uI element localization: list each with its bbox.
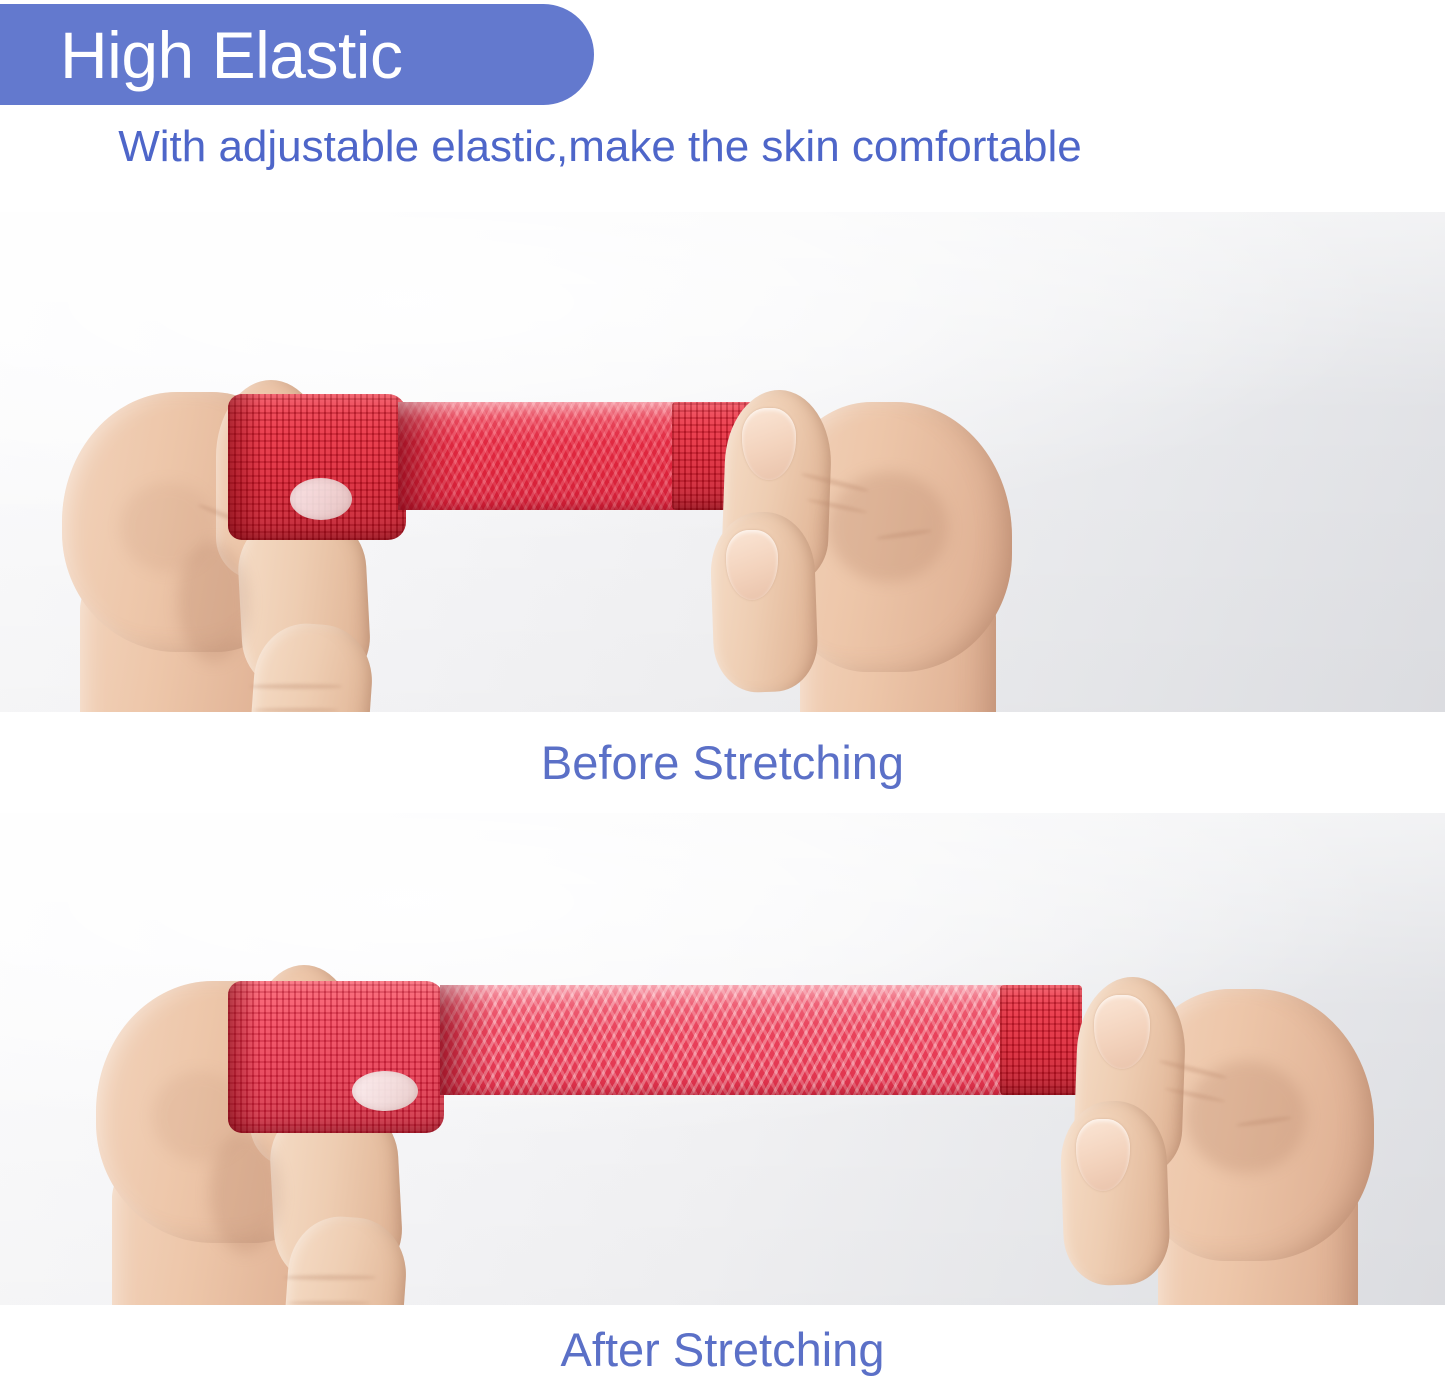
bandage-band-end-after <box>1000 985 1082 1095</box>
subtitle-text: With adjustable elastic,make the skin co… <box>0 121 1200 173</box>
left-knuckle-shadow <box>120 482 216 572</box>
caption-label: Before Stretching <box>541 737 904 789</box>
photo-after-stretching <box>0 813 1445 1305</box>
left-hand-crease <box>250 684 342 689</box>
header: High Elastic With adjustable elastic,mak… <box>0 0 1445 212</box>
caption-after-stretching: After Stretching <box>0 1305 1445 1383</box>
caption-label: After Stretching <box>561 1324 885 1376</box>
caption-before-stretching: Before Stretching <box>0 712 1445 813</box>
bandage-band-after <box>440 985 1040 1095</box>
right-knuckle-shadow <box>828 472 948 582</box>
left-hand-crease <box>284 1275 376 1280</box>
photo-before-stretching <box>0 212 1445 712</box>
title-badge: High Elastic <box>0 4 594 105</box>
bandage-roll-after <box>228 981 444 1133</box>
bandage-roll-core <box>290 478 352 520</box>
right-knuckle-shadow <box>1186 1061 1306 1173</box>
bandage-roll-core <box>352 1071 418 1111</box>
page-title: High Elastic <box>0 22 402 88</box>
